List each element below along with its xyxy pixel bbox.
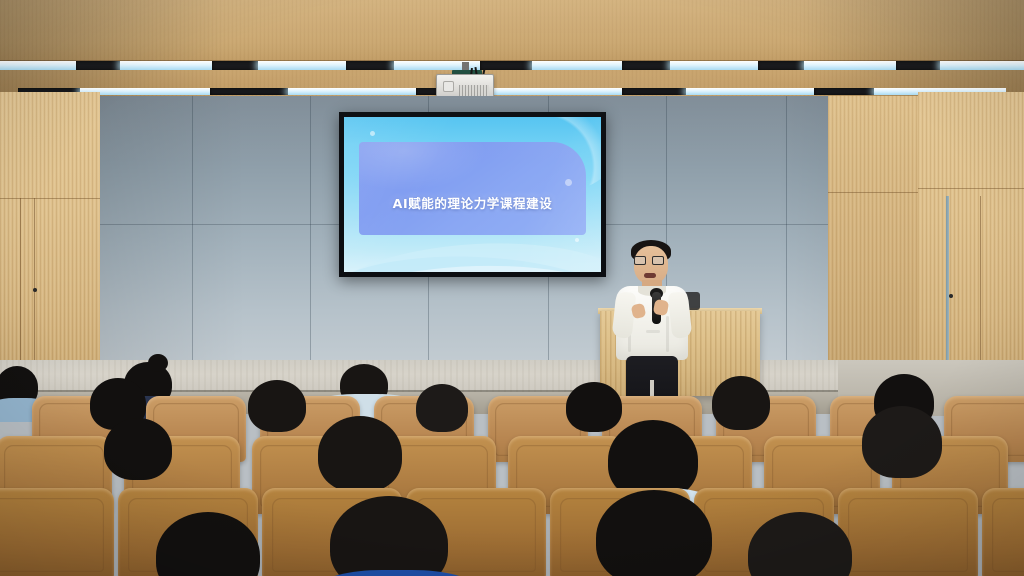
ceiling-light-rail-upper	[0, 61, 1024, 70]
projector-lens	[443, 81, 454, 92]
right-door-handle[interactable]	[949, 294, 953, 298]
audience-hair-bun	[148, 354, 168, 372]
presenter-head	[634, 246, 668, 284]
slide-dot	[575, 238, 579, 242]
audience-head	[248, 380, 306, 432]
audience-head	[416, 384, 468, 432]
slide-card-highlight	[359, 142, 585, 235]
wood-slats	[828, 96, 920, 372]
wood-slats	[0, 92, 100, 382]
audience-seating	[0, 392, 1024, 576]
right-wall-return-panel	[828, 96, 920, 372]
audience-head	[566, 382, 622, 432]
left-door-edge[interactable]	[20, 198, 21, 382]
wood-slats	[918, 92, 1024, 390]
left-wood-wall	[0, 92, 100, 382]
audience-head	[712, 376, 770, 430]
right-wood-wall	[918, 92, 1024, 390]
ceiling-light-rail-lower	[18, 88, 1006, 95]
right-door-gap[interactable]	[946, 196, 949, 382]
seat[interactable]	[982, 488, 1024, 576]
slide-dot	[370, 131, 375, 136]
projection-screen: AI赋能的理论力学课程建设	[344, 117, 601, 272]
right-door-edge[interactable]	[980, 196, 981, 384]
audience-head	[104, 418, 172, 480]
glasses-icon	[652, 256, 664, 265]
seat[interactable]	[0, 488, 114, 576]
projection-screen-frame: AI赋能的理论力学课程建设	[339, 112, 606, 277]
lecture-hall-scene: AI赋能的理论力学课程建设	[0, 0, 1024, 576]
seat[interactable]	[838, 488, 978, 576]
presenter-mouth	[644, 273, 656, 278]
presenter-arm-right	[668, 291, 693, 339]
slide-dot	[565, 179, 572, 186]
audience-head	[862, 406, 942, 478]
left-door-handle[interactable]	[33, 288, 37, 292]
glasses-icon	[634, 256, 646, 265]
audience-head	[318, 416, 402, 492]
audience-head	[596, 490, 712, 576]
slide-title: AI赋能的理论力学课程建设	[344, 193, 601, 212]
